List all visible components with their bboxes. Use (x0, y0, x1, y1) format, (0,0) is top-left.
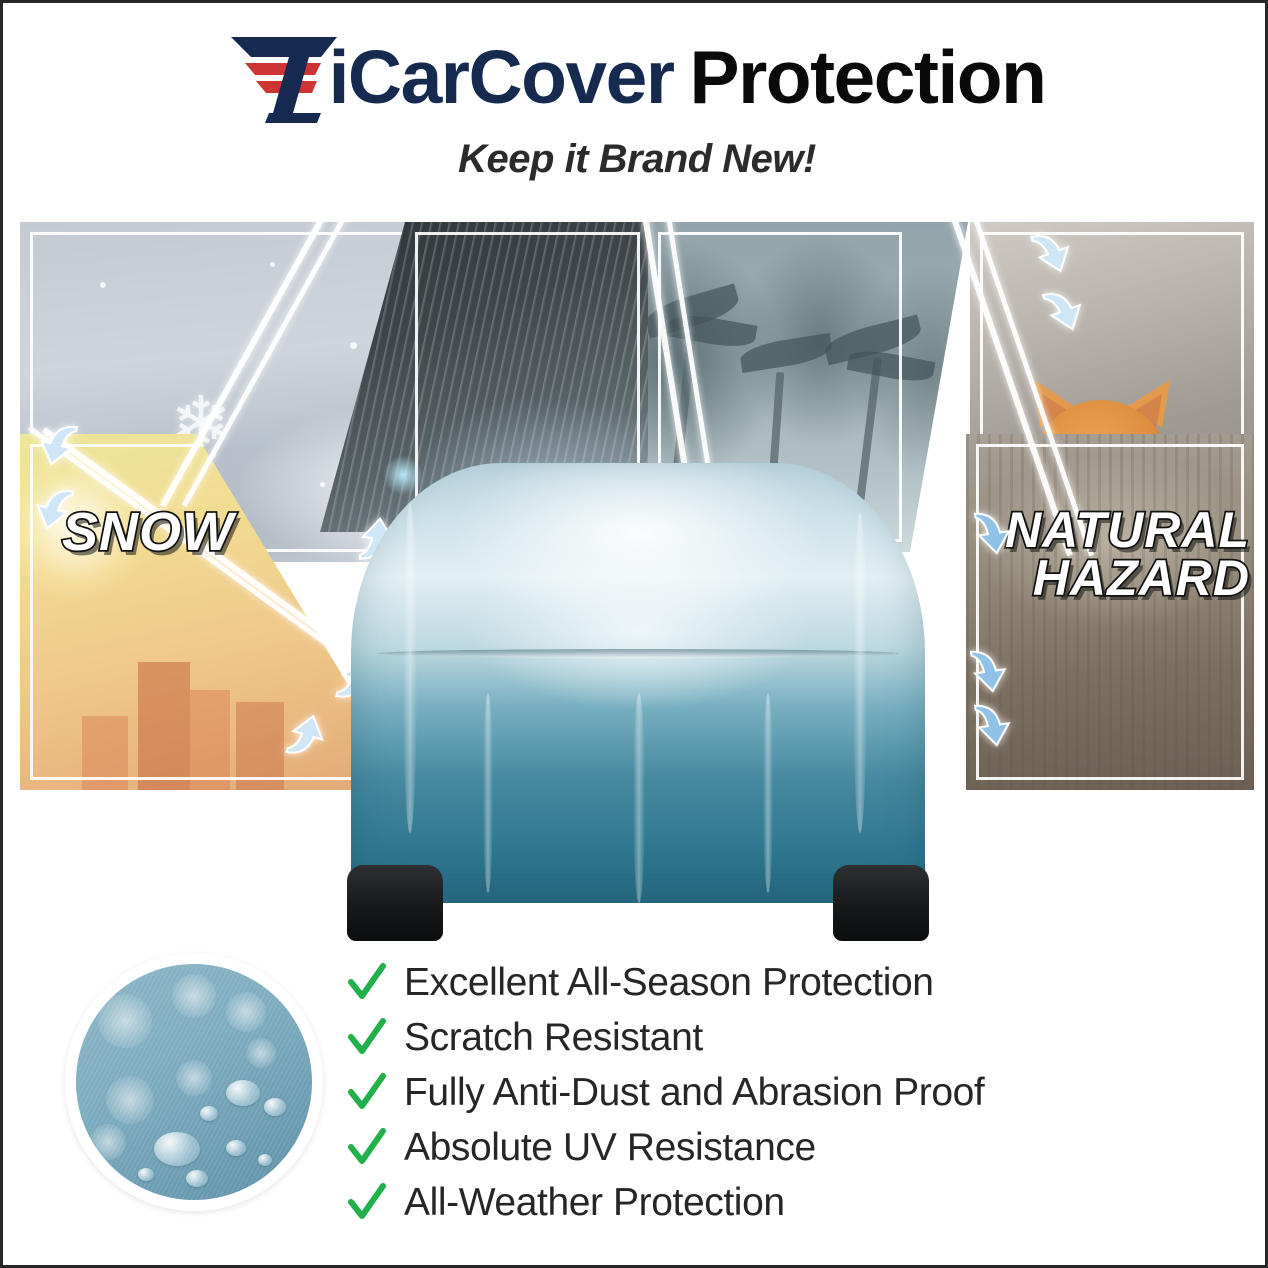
tire-left (347, 865, 443, 941)
covered-car-image (333, 443, 943, 943)
green-check-icon (348, 1073, 386, 1113)
green-check-icon (348, 1018, 386, 1058)
tagline: Keep it Brand New! (3, 137, 1268, 182)
deflection-arrow-icon (959, 643, 1012, 701)
car-cover-seam (377, 649, 899, 658)
list-item: Fully Anti-Dust and Abrasion Proof (348, 1065, 1178, 1120)
deflection-arrow-icon (963, 505, 1016, 563)
feature-label: Scratch Resistant (404, 1016, 703, 1060)
list-item: All-Weather Protection (348, 1175, 1178, 1230)
product-infographic: iCarCover Protection Keep it Brand New! … (0, 0, 1268, 1268)
wing-stripes-logo-icon (229, 31, 347, 123)
green-check-icon (348, 963, 386, 1003)
label-snow: SNOW (62, 507, 234, 559)
list-item: Scratch Resistant (348, 1010, 1178, 1065)
feature-label: Excellent All-Season Protection (404, 961, 934, 1005)
feature-label: All-Weather Protection (404, 1181, 785, 1225)
list-item: Excellent All-Season Protection (348, 955, 1178, 1010)
header: iCarCover Protection Keep it Brand New! (3, 25, 1268, 182)
feature-label: Absolute UV Resistance (404, 1126, 816, 1170)
product-word: Protection (690, 40, 1046, 115)
green-check-icon (348, 1128, 386, 1168)
tire-right (833, 865, 929, 941)
deflection-arrow-icon (963, 697, 1016, 755)
feature-label: Fully Anti-Dust and Abrasion Proof (404, 1071, 984, 1115)
shine-highlight-icon (383, 455, 423, 495)
title-row: iCarCover Protection (3, 25, 1268, 129)
feature-list: Excellent All-Season Protection Scratch … (348, 955, 1178, 1230)
green-check-icon (348, 1183, 386, 1223)
water-beading-fabric-swatch (65, 953, 323, 1211)
list-item: Absolute UV Resistance (348, 1120, 1178, 1175)
brand-name: iCarCover (329, 40, 674, 115)
